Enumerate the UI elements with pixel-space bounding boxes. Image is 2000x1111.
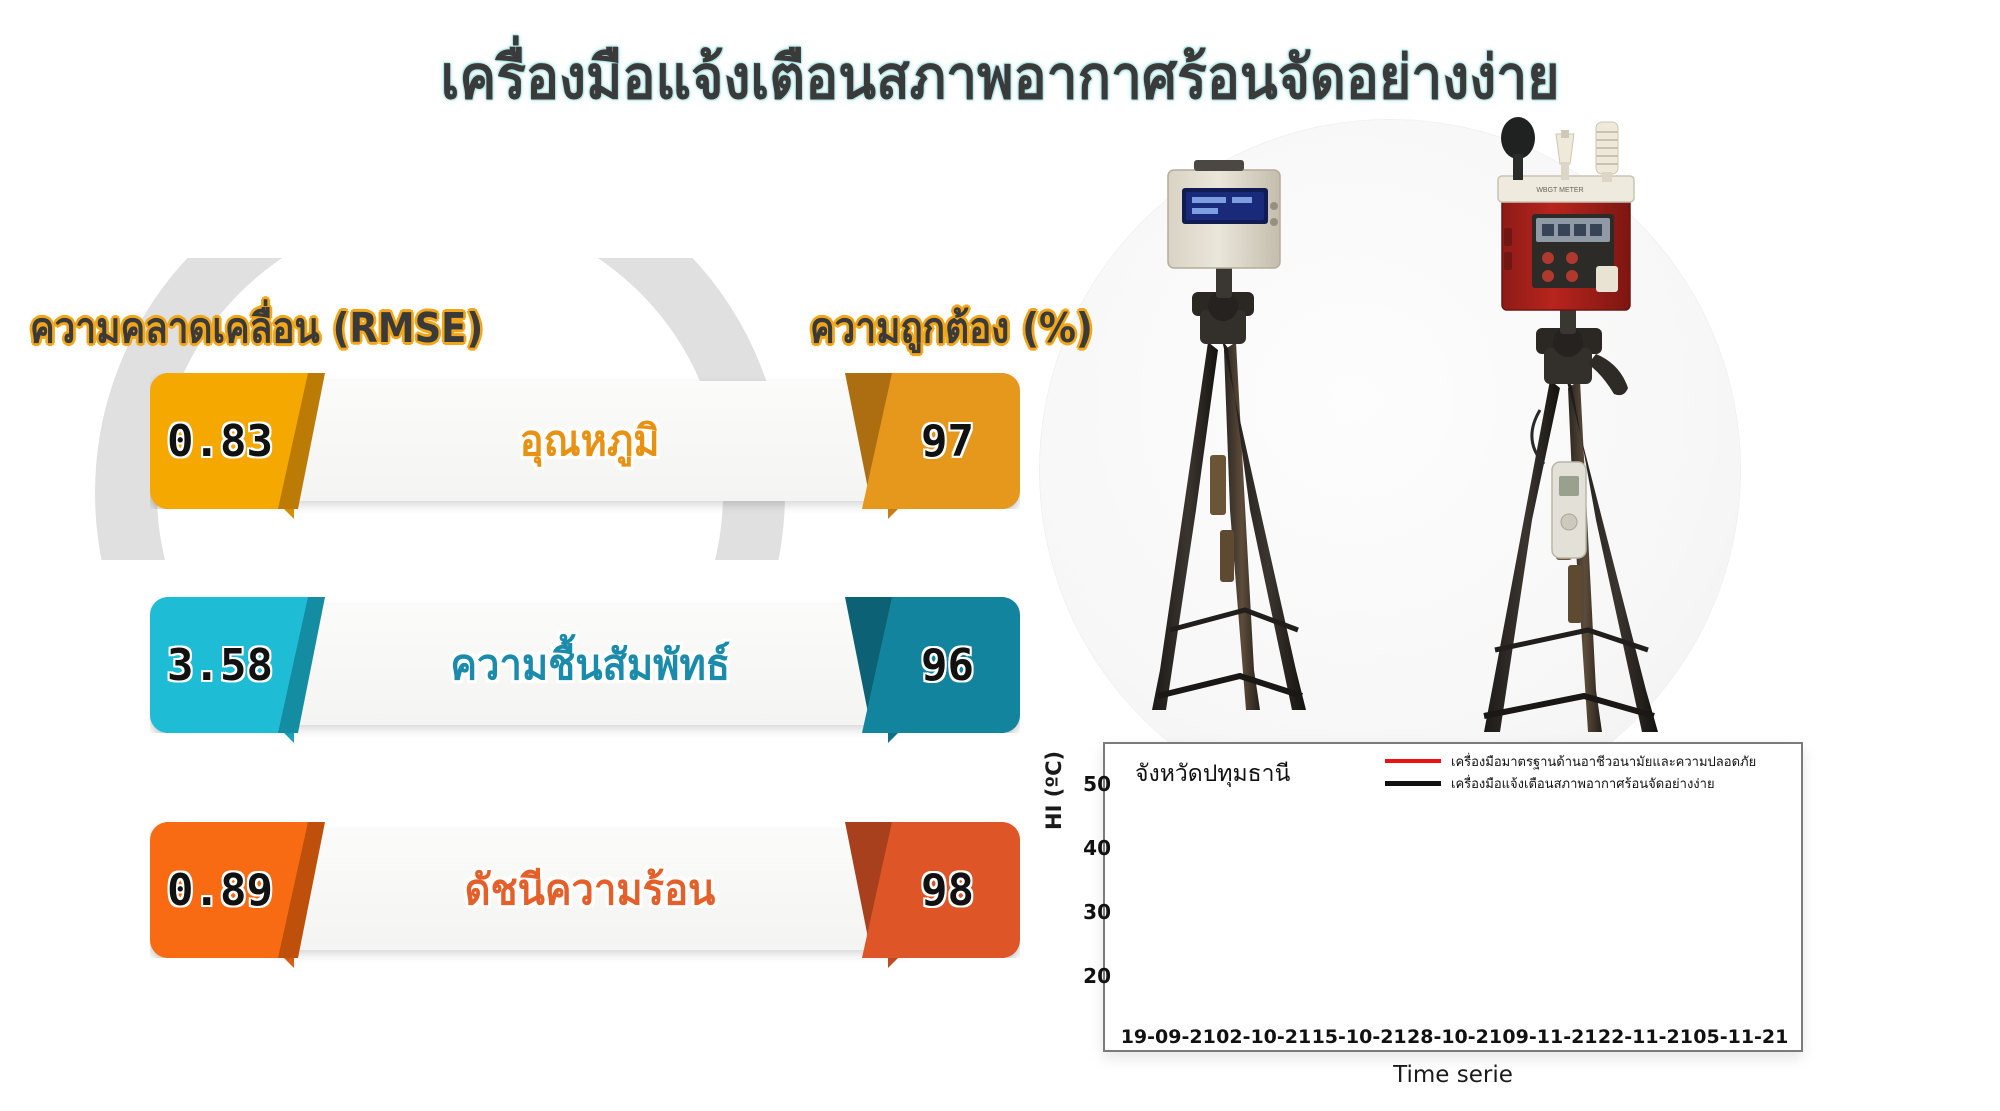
chart-x-tick: 05-11-21: [1693, 1026, 1788, 1048]
legend-item-standard: เครื่องมือมาตรฐานด้านอาชีวอนามัยและความป…: [1385, 750, 1756, 772]
chart-x-tick: 02-10-21: [1216, 1026, 1311, 1048]
metric-row-temperature: 0.83 อุณหภูมิ 97: [150, 373, 1020, 513]
legend-label-standard: เครื่องมือมาตรฐานด้านอาชีวอนามัยและความป…: [1451, 751, 1756, 772]
left-tripod-assembly: [1152, 160, 1306, 710]
metric-panel: ดัชนีความร้อน: [270, 830, 910, 950]
device-photo: WBGT METER: [1040, 110, 1820, 750]
chart-x-tick: 19-09-21: [1121, 1026, 1216, 1048]
metric-label: อุณหภูมิ: [520, 408, 660, 474]
chart-x-tick: 22-11-21: [1598, 1026, 1693, 1048]
accuracy-tab[interactable]: 98: [845, 822, 1020, 958]
chart-y-tick: 50: [1067, 772, 1111, 796]
chart-x-axis-title: Time serie: [1103, 1062, 1803, 1088]
column-header-accuracy: ความถูกต้อง (%): [810, 296, 1093, 361]
accuracy-value: 96: [875, 597, 1020, 733]
rmse-value: 0.89: [150, 822, 290, 958]
accuracy-value: 98: [875, 822, 1020, 958]
chart-y-tick: 20: [1067, 964, 1111, 988]
rmse-tab[interactable]: 3.58: [150, 597, 325, 733]
chart-legend: เครื่องมือมาตรฐานด้านอาชีวอนามัยและความป…: [1385, 750, 1756, 794]
rmse-tab[interactable]: 0.83: [150, 373, 325, 509]
rmse-value: 0.83: [150, 373, 290, 509]
accuracy-tab[interactable]: 97: [845, 373, 1020, 509]
rmse-value: 3.58: [150, 597, 290, 733]
right-tripod-assembly: WBGT METER: [1484, 117, 1658, 732]
legend-label-simple: เครื่องมือแจ้งเตือนสภาพอากาศร้อนจัดอย่าง…: [1451, 773, 1715, 794]
chart-y-axis-title: HI (ºC): [1042, 751, 1066, 830]
chart-x-tick: 28-10-21: [1407, 1026, 1502, 1048]
metric-panel: อุณหภูมิ: [270, 381, 910, 501]
metric-label: ความชื้นสัมพัทธ์: [450, 632, 730, 698]
chart-y-tick: 30: [1067, 900, 1111, 924]
legend-swatch-black: [1385, 781, 1441, 786]
accuracy-value: 97: [875, 373, 1020, 509]
metric-label: ดัชนีความร้อน: [465, 857, 716, 923]
metric-row-heat-index: 0.89 ดัชนีความร้อน 98: [150, 822, 1020, 962]
chart-annotation: จังหวัดปทุมธานี: [1135, 756, 1290, 792]
chart-x-tick: 09-11-21: [1502, 1026, 1597, 1048]
metric-panel: ความชื้นสัมพัทธ์: [270, 605, 910, 725]
column-header-rmse: ความคลาดเคลื่อน (RMSE): [30, 296, 483, 361]
ring-mask-top: [95, 148, 795, 258]
accuracy-tab[interactable]: 96: [845, 597, 1020, 733]
legend-item-simple: เครื่องมือแจ้งเตือนสภาพอากาศร้อนจัดอย่าง…: [1385, 772, 1756, 794]
chart-y-tick: 40: [1067, 836, 1111, 860]
chart-x-tick: 15-10-21: [1312, 1026, 1407, 1048]
rmse-tab[interactable]: 0.89: [150, 822, 325, 958]
legend-swatch-red: [1385, 759, 1441, 763]
device-photo-svg: WBGT METER: [1040, 110, 1820, 750]
metric-row-humidity: 3.58 ความชื้นสัมพัทธ์ 96: [150, 597, 1020, 737]
svg-text:WBGT METER: WBGT METER: [1536, 187, 1583, 194]
